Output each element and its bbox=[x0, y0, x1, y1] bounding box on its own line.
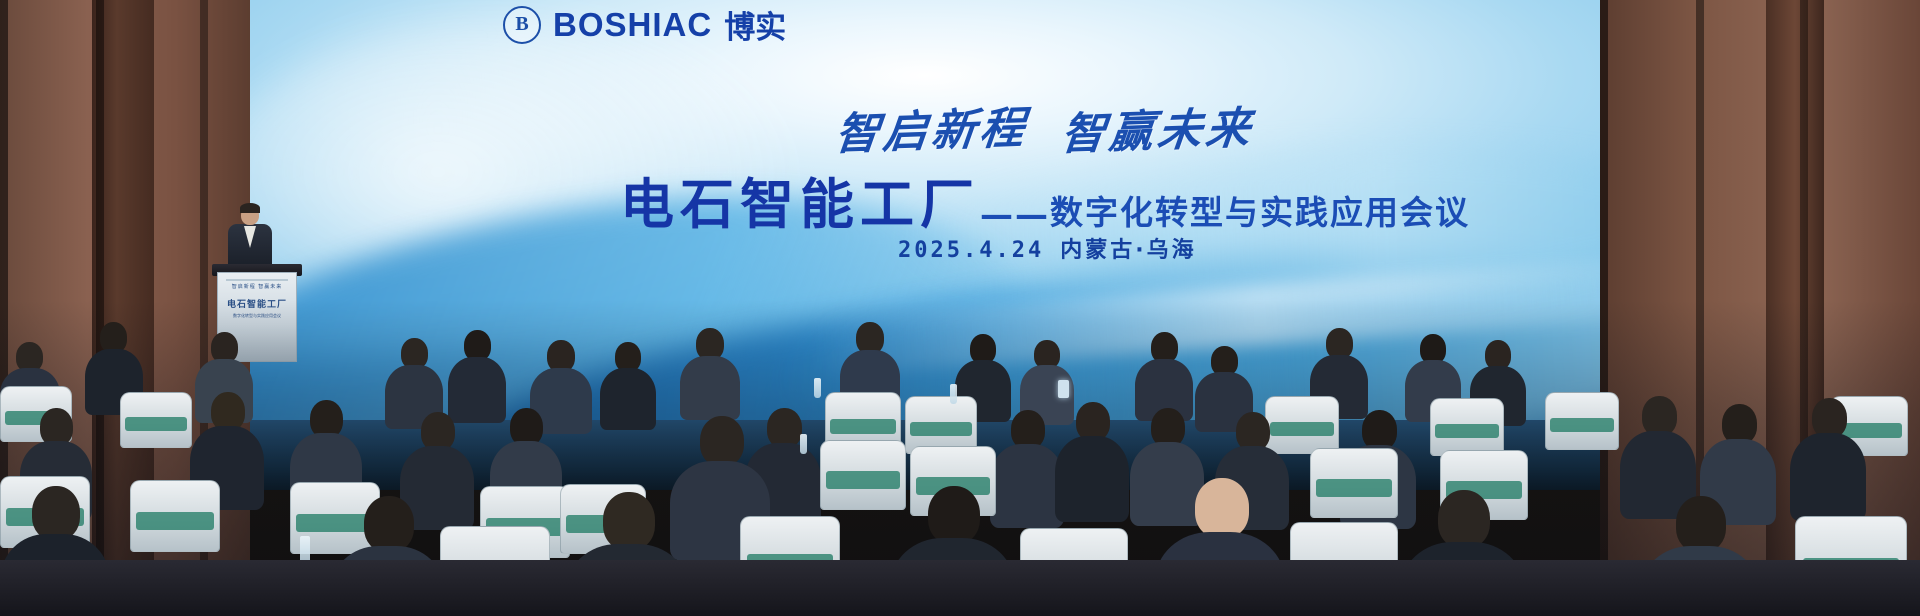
podium-edge-line bbox=[226, 279, 288, 281]
water-bottle bbox=[814, 378, 821, 398]
person-head bbox=[32, 486, 80, 540]
person-body bbox=[680, 356, 740, 420]
slogan-right: 智赢未来 bbox=[1058, 92, 1258, 163]
slogan-left: 智启新程 bbox=[832, 92, 1032, 163]
water-bottle bbox=[950, 384, 957, 404]
person-head bbox=[1642, 396, 1677, 436]
person-head bbox=[1195, 478, 1249, 538]
person-head bbox=[1438, 490, 1490, 548]
person-head bbox=[1676, 496, 1726, 552]
event-date-line: 2025.4.24 内蒙古·乌海 bbox=[898, 232, 1197, 264]
chair-band bbox=[1316, 479, 1392, 497]
chair-band bbox=[910, 422, 972, 437]
person-head bbox=[767, 408, 802, 448]
person-head bbox=[364, 496, 414, 552]
event-date: 2025.4.24 bbox=[898, 238, 1044, 263]
chair bbox=[120, 392, 192, 448]
person-body bbox=[1790, 433, 1866, 521]
chair bbox=[1430, 398, 1504, 456]
audience-member bbox=[600, 342, 656, 430]
person-head bbox=[1362, 410, 1397, 450]
event-slogan: 智启新程 智赢未来 bbox=[836, 95, 1254, 159]
event-title: 电石智能工厂 —— 数字化转型与实践应用会议 bbox=[620, 160, 1470, 239]
speaker-hair bbox=[240, 203, 260, 213]
audience-member bbox=[680, 328, 740, 420]
event-title-main: 电石智能工厂 bbox=[620, 160, 980, 239]
person-head bbox=[1812, 398, 1847, 438]
event-location: 内蒙古·乌海 bbox=[1060, 232, 1196, 264]
chair-band bbox=[125, 417, 187, 431]
chair-band bbox=[826, 471, 900, 489]
hall-floor bbox=[0, 560, 1920, 616]
brand-name-english: BOSHIAC bbox=[553, 6, 712, 44]
water-bottle bbox=[800, 434, 807, 454]
person-head bbox=[700, 416, 744, 466]
speaker-at-podium bbox=[228, 205, 272, 267]
person-head bbox=[1722, 404, 1757, 444]
conference-photo: B BOSHIAC 博实 智启新程 智赢未来 电石智能工厂 —— 数字化转型与实… bbox=[0, 0, 1920, 616]
chair-band bbox=[1435, 424, 1498, 439]
chair bbox=[1310, 448, 1398, 518]
person-body bbox=[1055, 436, 1129, 522]
chair-band bbox=[830, 419, 895, 434]
person-body bbox=[600, 368, 656, 430]
chair bbox=[1545, 392, 1619, 450]
podium-slogan: 智启新程 智赢未来 bbox=[218, 283, 296, 290]
brand-name-chinese: 博实 bbox=[724, 2, 786, 47]
audience-member bbox=[1055, 402, 1129, 518]
person-head bbox=[603, 492, 655, 550]
chair-band bbox=[1550, 418, 1613, 433]
attendee-phone bbox=[1058, 380, 1069, 398]
chair-band bbox=[136, 512, 213, 530]
person-head bbox=[928, 486, 980, 544]
boshiac-circular-logo-icon: B bbox=[503, 6, 541, 44]
brand-logo: B BOSHIAC 博实 bbox=[503, 2, 786, 47]
chair bbox=[130, 480, 220, 552]
audience-member bbox=[1135, 332, 1193, 420]
audience-member bbox=[1790, 398, 1866, 518]
